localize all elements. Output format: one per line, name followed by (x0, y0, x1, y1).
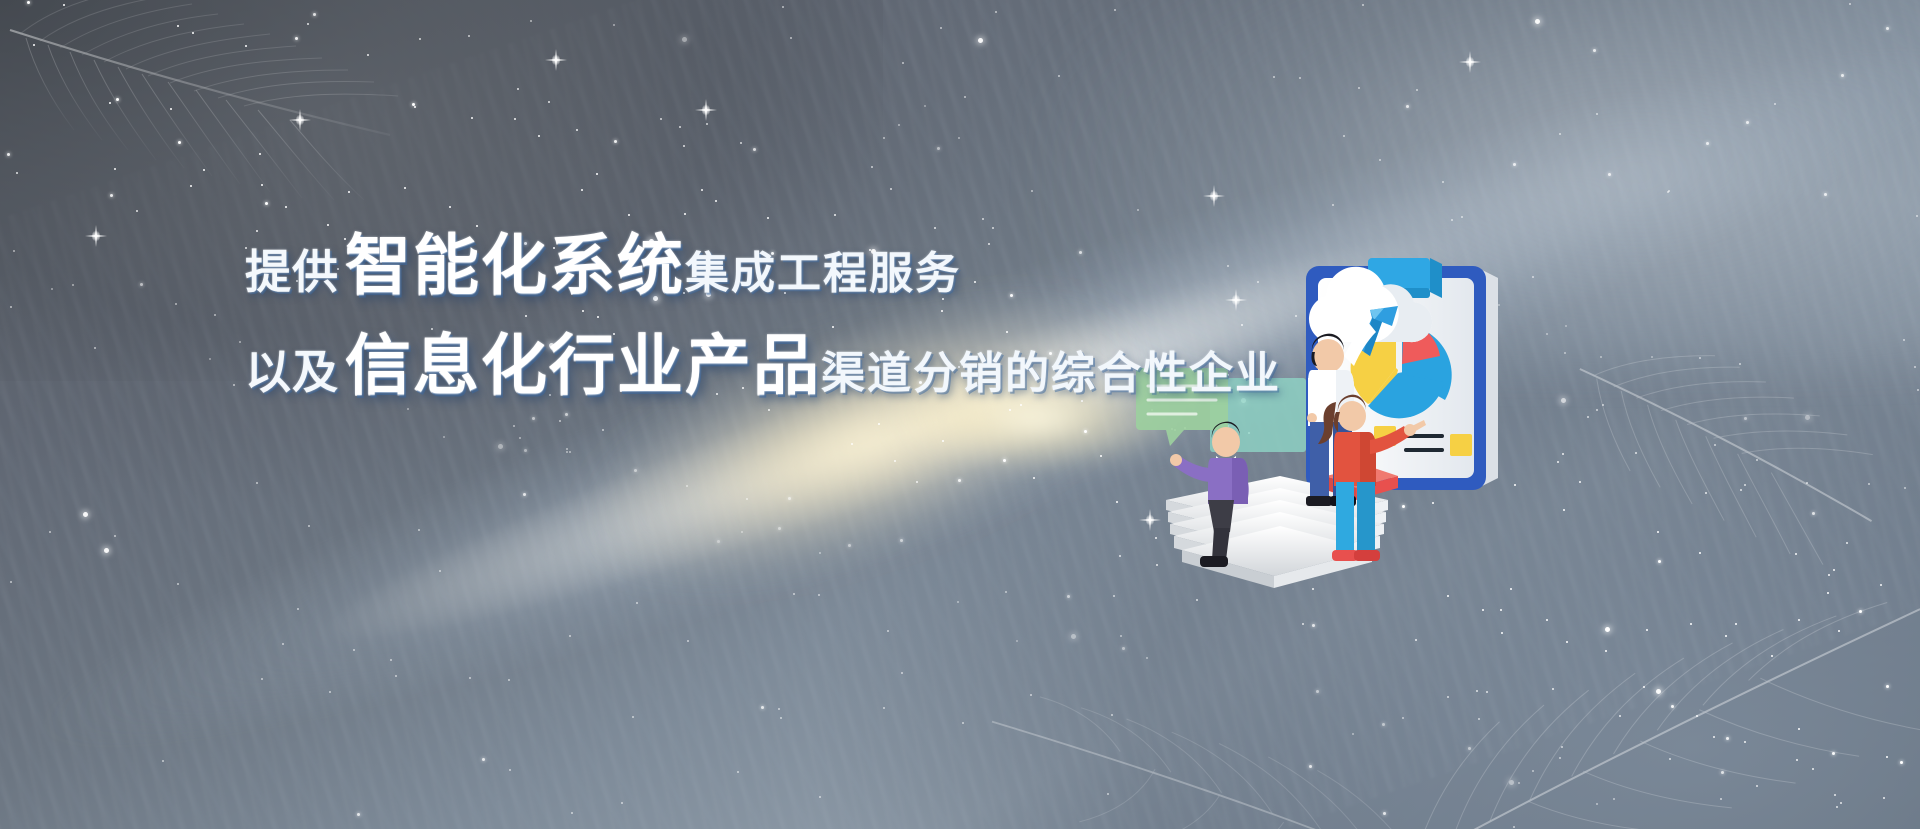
star (1602, 404, 1604, 406)
star (1362, 4, 1364, 6)
star (1383, 812, 1386, 815)
star (883, 137, 885, 139)
star (1447, 595, 1449, 597)
star (962, 722, 964, 724)
star (767, 217, 769, 219)
star (414, 106, 416, 108)
starfield (0, 0, 1920, 829)
star (1312, 624, 1315, 627)
star (780, 717, 782, 719)
star (1699, 552, 1701, 554)
star (1081, 400, 1083, 402)
star (1402, 717, 1404, 719)
star (308, 525, 310, 527)
star (958, 479, 961, 482)
star (1116, 501, 1118, 503)
star (1849, 3, 1851, 5)
star (1476, 690, 1478, 692)
star (1903, 339, 1905, 341)
star (1746, 121, 1749, 124)
star (1833, 569, 1835, 571)
star (162, 760, 164, 762)
star (357, 813, 360, 816)
star (1812, 512, 1815, 515)
star (1824, 193, 1827, 196)
star (1557, 461, 1559, 463)
star (1667, 191, 1669, 193)
star (819, 796, 821, 798)
star (1559, 757, 1561, 759)
star (482, 758, 485, 761)
star (1605, 650, 1607, 652)
star (1513, 826, 1515, 828)
hero-banner: 提供 智能化系统 集成工程服务 以及 信息化行业产品 渠道分销的综合性企业 (0, 0, 1920, 829)
star (509, 769, 511, 771)
star (1513, 163, 1516, 166)
star (1113, 595, 1115, 597)
star (701, 189, 703, 191)
star (265, 202, 268, 205)
star (596, 173, 598, 175)
star-sparkle (705, 99, 707, 121)
star (957, 601, 959, 603)
star (793, 593, 795, 595)
star (1744, 484, 1746, 486)
star (1500, 609, 1502, 611)
star (285, 206, 287, 208)
star (581, 189, 583, 191)
star (1122, 647, 1125, 650)
star (114, 535, 116, 537)
star-sparkle (299, 109, 301, 131)
star (887, 630, 889, 632)
star (1593, 49, 1596, 52)
headline-line1-emphasis: 智能化系统 (345, 232, 685, 298)
star (104, 548, 109, 553)
star (307, 23, 309, 25)
star (16, 172, 18, 174)
star (900, 539, 903, 542)
star (170, 108, 172, 110)
star (937, 147, 940, 150)
star (995, 11, 997, 13)
star (1273, 76, 1275, 78)
star (140, 283, 143, 286)
star-sparkle (1469, 51, 1471, 73)
star (1501, 632, 1503, 634)
star (514, 118, 516, 120)
star (686, 485, 688, 487)
star (508, 679, 510, 681)
star (1812, 768, 1814, 770)
star (1886, 27, 1889, 30)
star (851, 443, 853, 445)
star (471, 117, 473, 119)
star-sparkle (95, 225, 97, 247)
star (819, 552, 821, 554)
star (1886, 756, 1888, 758)
star (768, 409, 770, 411)
star (1714, 444, 1716, 446)
star (1563, 509, 1565, 511)
star (259, 153, 261, 155)
star (1447, 696, 1449, 698)
star (1067, 595, 1070, 598)
star (1579, 481, 1581, 483)
star (1137, 209, 1139, 211)
star (1671, 705, 1674, 708)
star (395, 675, 397, 677)
star (1900, 761, 1903, 764)
star (569, 451, 571, 453)
star (1883, 797, 1885, 799)
star (1343, 135, 1345, 137)
star (1608, 173, 1611, 176)
star (1916, 215, 1918, 217)
star (203, 169, 205, 171)
headline-line2-lead: 以及 (245, 349, 339, 395)
star (1332, 204, 1334, 206)
star (934, 227, 936, 229)
star (717, 540, 720, 543)
star (706, 123, 708, 125)
star (1564, 352, 1566, 354)
star (1030, 694, 1032, 696)
star (476, 225, 478, 227)
headline-line2-tail: 渠道分销的综合性企业 (821, 352, 1281, 396)
star (1532, 276, 1534, 278)
star (1834, 794, 1836, 796)
star (1713, 736, 1715, 738)
star (1005, 591, 1007, 593)
star (449, 206, 451, 208)
star (1415, 639, 1417, 641)
star (632, 716, 634, 718)
star (878, 423, 880, 425)
star (517, 88, 519, 90)
headline-block: 提供 智能化系统 集成工程服务 以及 信息化行业产品 渠道分销的综合性企业 (245, 232, 1275, 398)
star (13, 250, 15, 252)
star (1058, 75, 1060, 77)
star (924, 105, 926, 107)
star (1352, 733, 1354, 735)
star (1535, 19, 1540, 24)
star (1120, 635, 1122, 637)
star (1846, 542, 1848, 544)
star (1084, 430, 1087, 433)
star (1836, 806, 1838, 808)
star (1561, 746, 1563, 748)
star (1509, 780, 1514, 785)
star (1868, 483, 1870, 485)
star (1705, 492, 1707, 494)
star (978, 38, 983, 43)
star (1658, 560, 1661, 563)
star (1886, 685, 1889, 688)
star (559, 420, 561, 422)
star (1486, 691, 1488, 693)
star (621, 802, 623, 804)
star-sparkle (1213, 185, 1215, 207)
star (49, 531, 51, 533)
star (443, 436, 445, 438)
star (1740, 489, 1742, 491)
star (1635, 452, 1637, 454)
star (109, 102, 111, 104)
star (282, 643, 284, 645)
star (83, 512, 88, 517)
star (788, 497, 791, 500)
star (1071, 634, 1076, 639)
star (761, 706, 764, 709)
star (834, 214, 836, 216)
star (715, 200, 717, 202)
star (1196, 599, 1198, 601)
star (1033, 477, 1035, 479)
star (1016, 640, 1018, 642)
headline-line2-emphasis: 信息化行业产品 (345, 332, 821, 398)
star (297, 608, 299, 610)
star (192, 32, 194, 34)
star (519, 437, 521, 439)
star (942, 440, 944, 442)
star (295, 37, 298, 40)
star (407, 408, 409, 410)
star (1613, 798, 1615, 800)
star (1827, 592, 1829, 594)
star (1596, 409, 1598, 411)
star (177, 25, 179, 27)
star (1880, 584, 1882, 586)
star (1587, 416, 1589, 418)
star (524, 449, 527, 452)
star (1532, 770, 1534, 772)
star (684, 213, 686, 215)
headline-line-2: 以及 信息化行业产品 渠道分销的综合性企业 (245, 332, 1275, 398)
star (1744, 741, 1746, 743)
star (439, 570, 441, 572)
star (190, 185, 192, 187)
star (1552, 688, 1554, 690)
headline-line1-tail: 集成工程服务 (685, 252, 961, 296)
star (498, 444, 503, 449)
star (1643, 686, 1645, 688)
star (63, 4, 65, 6)
star (1114, 9, 1116, 11)
headline-line1-lead: 提供 (245, 249, 339, 295)
star (175, 303, 177, 305)
star (1559, 133, 1561, 135)
star (1696, 715, 1698, 717)
star (51, 288, 53, 290)
star (1600, 356, 1602, 358)
headline-line-1: 提供 智能化系统 集成工程服务 (245, 232, 1275, 298)
star (741, 531, 743, 533)
star (1656, 689, 1661, 694)
star (1468, 747, 1471, 750)
star (1840, 802, 1842, 804)
star (1838, 630, 1840, 632)
star (27, 1, 30, 4)
star (1406, 105, 1409, 108)
star (958, 137, 960, 139)
star (256, 482, 258, 484)
star (894, 460, 896, 462)
star (569, 635, 571, 637)
star (1795, 553, 1797, 555)
star (114, 168, 116, 170)
star (1798, 619, 1800, 621)
star (916, 481, 918, 483)
star (116, 98, 119, 101)
star (1562, 453, 1564, 455)
star (1828, 574, 1830, 576)
star (778, 708, 780, 710)
star (1756, 459, 1758, 461)
star (209, 358, 211, 360)
star (602, 429, 604, 431)
star (778, 527, 781, 530)
star (576, 129, 578, 131)
star (1565, 325, 1567, 327)
star (33, 44, 35, 46)
star (1690, 623, 1692, 625)
star (523, 493, 526, 496)
star (261, 184, 263, 186)
star (1646, 629, 1648, 631)
star (353, 649, 355, 651)
star (110, 194, 113, 197)
star (902, 62, 904, 64)
star (404, 187, 406, 189)
star (548, 101, 550, 103)
star (1031, 190, 1033, 192)
star (1669, 758, 1671, 760)
star (636, 602, 638, 604)
star (613, 24, 615, 26)
star (1461, 216, 1463, 218)
star (538, 135, 540, 137)
star (329, 691, 331, 693)
star (1774, 103, 1776, 105)
star (571, 812, 573, 814)
star (790, 37, 792, 39)
star (1379, 159, 1381, 161)
star (1725, 635, 1727, 637)
star (513, 425, 515, 427)
star (72, 284, 74, 286)
star (848, 544, 851, 547)
star (1739, 363, 1741, 365)
star (1518, 782, 1520, 784)
star (1904, 487, 1906, 489)
star (1003, 459, 1006, 462)
star (1566, 641, 1568, 643)
star (239, 341, 241, 343)
star (679, 126, 681, 128)
star (136, 210, 138, 212)
star (468, 35, 470, 37)
star (233, 384, 235, 386)
star (530, 20, 532, 22)
star (1798, 728, 1800, 730)
star (566, 448, 568, 450)
star (1358, 87, 1360, 89)
star (178, 141, 181, 144)
star (1596, 113, 1598, 115)
star (10, 581, 12, 583)
star (901, 672, 903, 674)
star (753, 148, 756, 151)
star (1302, 623, 1304, 625)
star (746, 498, 748, 500)
star (682, 37, 687, 42)
star (1744, 417, 1747, 420)
star (1546, 619, 1548, 621)
star (883, 707, 885, 709)
star (177, 583, 179, 585)
star (634, 469, 637, 472)
star (1416, 89, 1418, 91)
star (1756, 785, 1758, 787)
star (1699, 357, 1701, 359)
star (390, 659, 392, 661)
star (1596, 803, 1598, 805)
star (1605, 627, 1610, 632)
star (313, 13, 316, 16)
star (898, 124, 900, 126)
star (532, 417, 535, 420)
star (214, 314, 216, 316)
star (1735, 623, 1737, 625)
star (818, 594, 820, 596)
star (245, 45, 247, 47)
star (1146, 657, 1148, 659)
star (1442, 181, 1444, 183)
star (740, 142, 742, 144)
star (982, 218, 984, 220)
star (565, 413, 568, 416)
star (1546, 333, 1548, 335)
star (687, 640, 689, 642)
star (992, 227, 994, 229)
star (1651, 356, 1653, 358)
star-sparkle (555, 49, 557, 71)
star (1020, 404, 1022, 406)
star (614, 140, 617, 143)
star (1859, 610, 1862, 613)
star (1382, 723, 1385, 726)
star (1806, 482, 1808, 484)
star (1917, 389, 1919, 391)
star (7, 153, 10, 156)
star (348, 191, 350, 193)
star (1478, 718, 1480, 720)
star (419, 38, 421, 40)
star (1119, 555, 1121, 557)
star (418, 529, 420, 531)
star (1316, 690, 1319, 693)
star (1805, 415, 1810, 420)
star (1771, 655, 1773, 657)
star (1726, 737, 1729, 740)
star (1796, 759, 1798, 761)
star (1482, 609, 1484, 611)
star (1561, 398, 1566, 403)
star (1721, 771, 1724, 774)
star (1720, 798, 1722, 800)
star (1107, 793, 1109, 795)
